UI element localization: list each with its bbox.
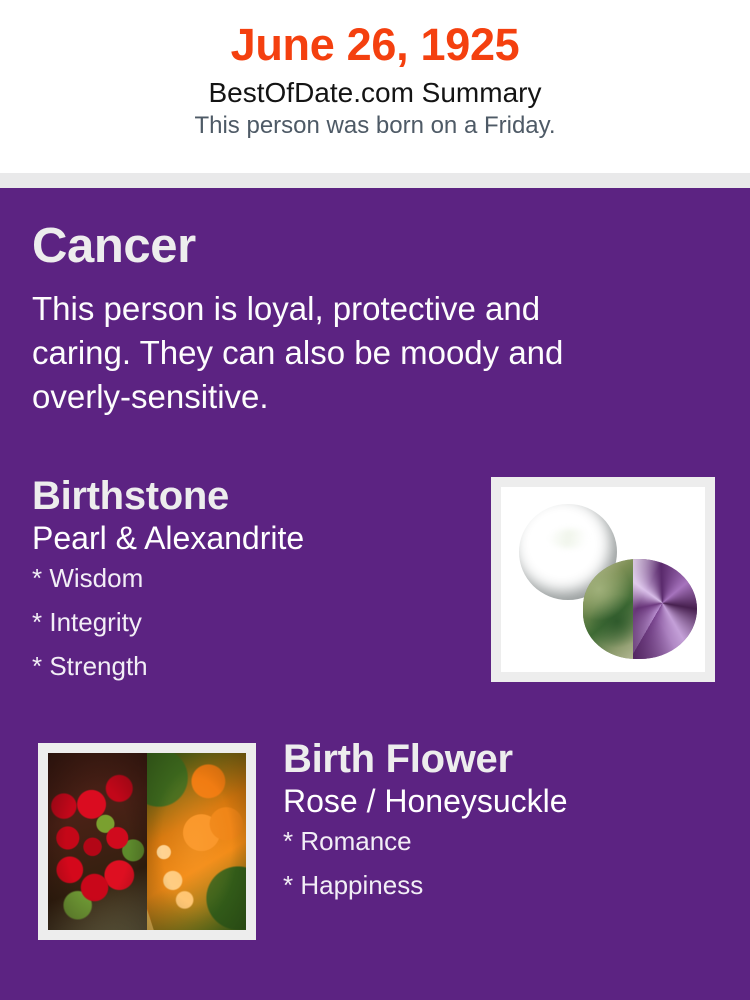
roses-honeysuckle-art (48, 753, 246, 930)
birth-flower-heading: Birth Flower (283, 739, 723, 780)
red-roses-photo-half (48, 753, 147, 930)
honeysuckle-photo-half (147, 753, 246, 930)
page-title: June 26, 1925 (0, 21, 750, 70)
header-divider (0, 173, 750, 188)
zodiac-section: Cancer This person is loyal, protective … (32, 222, 672, 420)
birthstone-image-inner (501, 487, 705, 672)
list-item: * Strength (32, 653, 472, 679)
born-day-text: This person was born on a Friday. (0, 113, 750, 140)
zodiac-sign-description: This person is loyal, protective and car… (32, 287, 646, 420)
birthstone-image (491, 477, 715, 682)
zodiac-sign-name: Cancer (32, 222, 672, 271)
birth-flower-trait-list: * Romance * Happiness (283, 828, 723, 898)
birth-flower-value: Rose / Honeysuckle (283, 784, 723, 819)
summary-card: June 26, 1925 BestOfDate.com Summary Thi… (0, 0, 750, 1000)
card-header: June 26, 1925 BestOfDate.com Summary Thi… (0, 0, 750, 173)
birthstone-heading: Birthstone (32, 476, 472, 517)
site-summary-label: BestOfDate.com Summary (0, 77, 750, 108)
birth-flower-section: Birth Flower Rose / Honeysuckle * Romanc… (283, 739, 723, 916)
birthstone-value: Pearl & Alexandrite (32, 521, 472, 556)
birth-flower-image-inner (48, 753, 246, 930)
list-item: * Wisdom (32, 565, 472, 591)
alexandrite-gem-icon (583, 559, 697, 659)
list-item: * Integrity (32, 609, 472, 635)
list-item: * Happiness (283, 872, 723, 898)
pearl-alexandrite-art (501, 487, 705, 672)
birth-flower-image (38, 743, 256, 940)
list-item: * Romance (283, 828, 723, 854)
birthstone-section: Birthstone Pearl & Alexandrite * Wisdom … (32, 476, 472, 697)
birthstone-trait-list: * Wisdom * Integrity * Strength (32, 565, 472, 679)
